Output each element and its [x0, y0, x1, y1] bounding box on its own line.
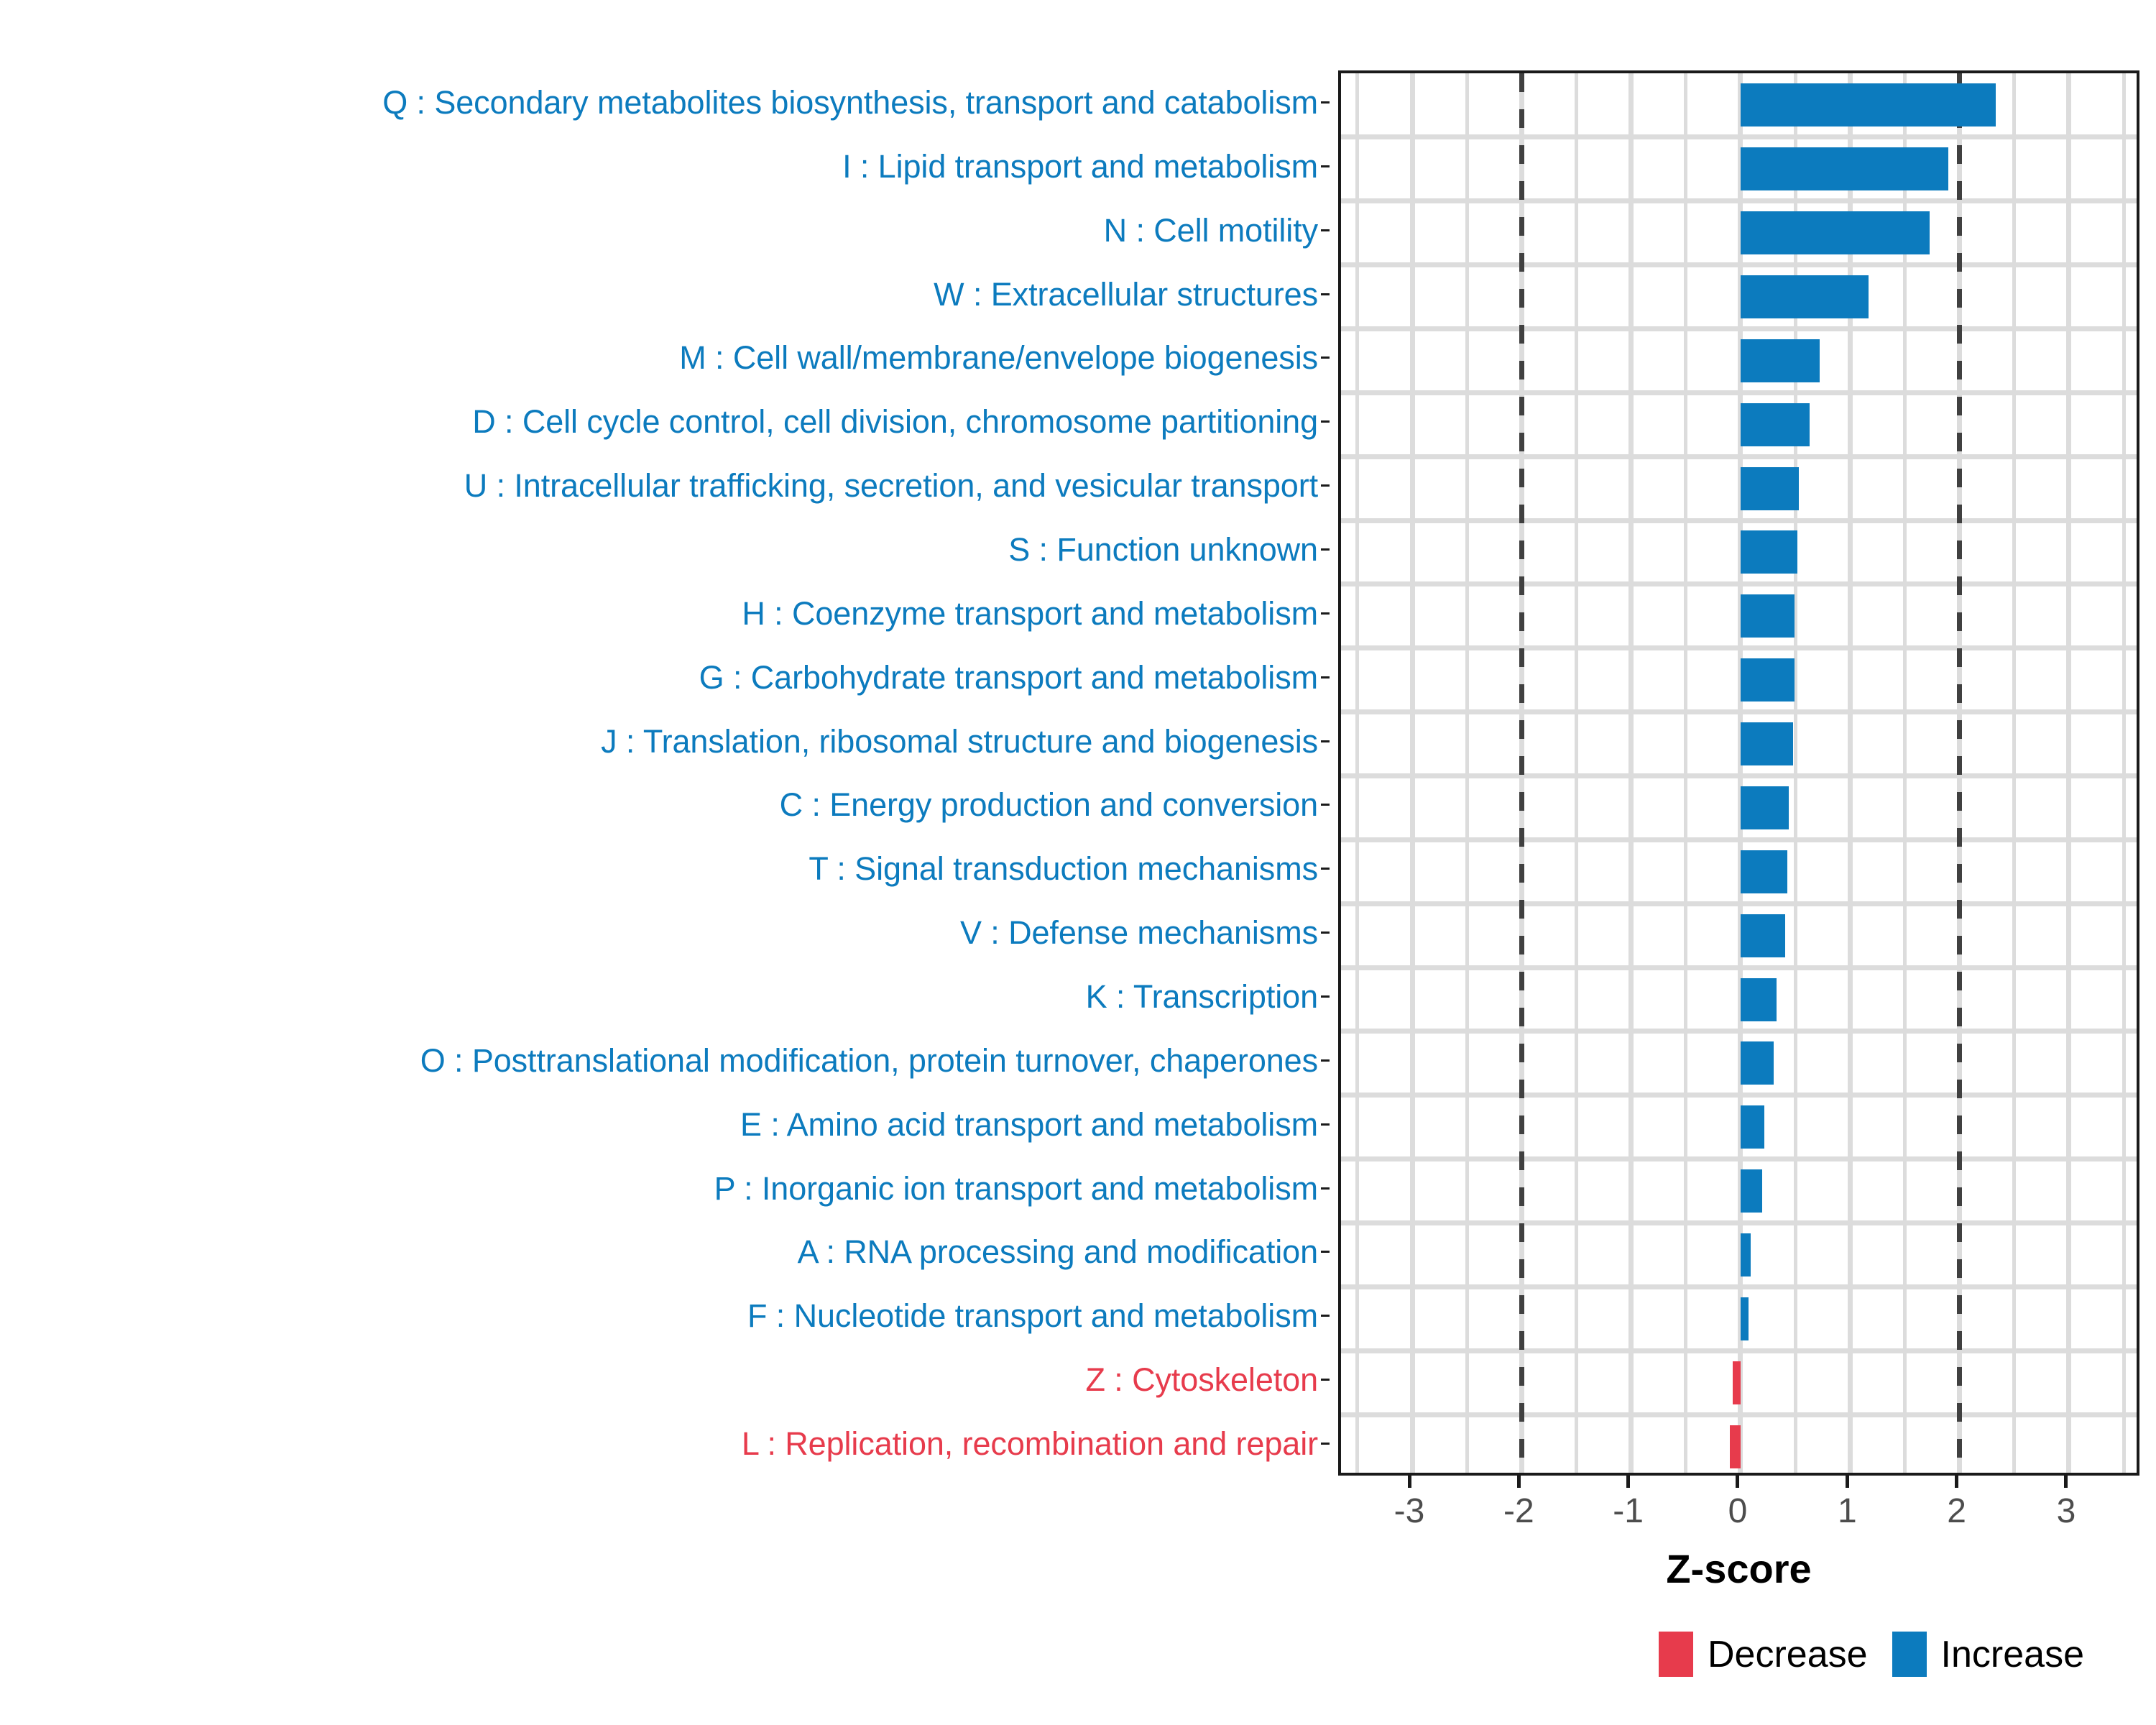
- vertical-gridline-major: [2066, 73, 2071, 1473]
- vertical-gridline-minor: [1575, 73, 1578, 1473]
- x-tick-label: 3: [2057, 1491, 2076, 1531]
- x-tick-label: -3: [1394, 1491, 1425, 1531]
- category-tick-mark: [1321, 612, 1330, 615]
- category-label: S : Function unknown: [1008, 533, 1321, 566]
- chart-root: Q : Secondary metabolites biosynthesis, …: [0, 0, 2156, 1725]
- bar: [1741, 594, 1795, 638]
- category-label: M : Cell wall/membrane/envelope biogenes…: [679, 341, 1321, 374]
- category-tick-mark: [1321, 229, 1330, 231]
- legend-swatch: [1659, 1632, 1693, 1677]
- category-tick-mark: [1321, 1251, 1330, 1253]
- category-label: Q : Secondary metabolites biosynthesis, …: [382, 86, 1321, 119]
- category-label-row: J : Translation, ribosomal structure and…: [0, 719, 1330, 763]
- category-label-row: E : Amino acid transport and metabolism: [0, 1103, 1330, 1146]
- category-label-row: D : Cell cycle control, cell division, c…: [0, 400, 1330, 443]
- legend-item[interactable]: Increase: [1892, 1632, 2084, 1677]
- category-label-row: T : Signal transduction mechanisms: [0, 847, 1330, 891]
- category-label: W : Extracellular structures: [934, 278, 1321, 310]
- category-tick-mark: [1321, 740, 1330, 742]
- category-tick-mark: [1321, 1443, 1330, 1445]
- category-label: Z : Cytoskeleton: [1085, 1363, 1321, 1396]
- category-tick-mark: [1321, 548, 1330, 551]
- category-label-row: A : RNA processing and modification: [0, 1230, 1330, 1274]
- category-label: T : Signal transduction mechanisms: [808, 852, 1321, 885]
- category-label-row: U : Intracellular trafficking, secretion…: [0, 464, 1330, 507]
- x-tick-mark: [2064, 1476, 2068, 1488]
- bar: [1741, 147, 1948, 190]
- category-label: I : Lipid transport and metabolism: [842, 150, 1321, 183]
- bar: [1741, 275, 1869, 318]
- vertical-gridline-major: [1410, 73, 1415, 1473]
- bar: [1741, 339, 1820, 382]
- category-tick-mark: [1321, 804, 1330, 806]
- category-label-row: V : Defense mechanisms: [0, 911, 1330, 954]
- bar: [1741, 658, 1795, 701]
- category-tick-mark: [1321, 356, 1330, 359]
- category-label-row: P : Inorganic ion transport and metaboli…: [0, 1167, 1330, 1210]
- x-tick-mark: [1846, 1476, 1849, 1488]
- vertical-gridline-minor: [2012, 73, 2016, 1473]
- category-axis-labels: Q : Secondary metabolites biosynthesis, …: [0, 70, 1330, 1476]
- category-label-row: N : Cell motility: [0, 208, 1330, 252]
- category-label-row: L : Replication, recombination and repai…: [0, 1422, 1330, 1466]
- bar: [1741, 1169, 1762, 1213]
- category-label-row: Z : Cytoskeleton: [0, 1358, 1330, 1402]
- bar: [1741, 1233, 1751, 1276]
- category-tick-mark: [1321, 868, 1330, 870]
- legend-item[interactable]: Decrease: [1659, 1632, 1868, 1677]
- vertical-gridline-minor: [1355, 73, 1359, 1473]
- bar: [1741, 467, 1799, 510]
- vertical-gridline-minor: [2122, 73, 2126, 1473]
- bar: [1741, 914, 1785, 957]
- category-tick-mark: [1321, 1123, 1330, 1126]
- bar: [1741, 786, 1789, 829]
- vertical-gridline-minor: [1903, 73, 1907, 1473]
- x-tick-label: -1: [1613, 1491, 1644, 1531]
- category-tick-mark: [1321, 293, 1330, 295]
- category-label: V : Defense mechanisms: [960, 916, 1321, 949]
- category-label: U : Intracellular trafficking, secretion…: [464, 469, 1321, 502]
- category-label: K : Transcription: [1086, 980, 1321, 1013]
- category-label: J : Translation, ribosomal structure and…: [601, 725, 1321, 758]
- vertical-gridline-minor: [1465, 73, 1469, 1473]
- x-tick-label: 1: [1838, 1491, 1857, 1531]
- plot-panel: [1338, 70, 2139, 1476]
- x-tick-label: 2: [1947, 1491, 1966, 1531]
- category-tick-mark: [1321, 995, 1330, 998]
- x-axis-title: Z-score: [1338, 1545, 2139, 1592]
- reference-line: [1519, 73, 1524, 1473]
- category-label: O : Posttranslational modification, prot…: [420, 1044, 1321, 1077]
- category-tick-mark: [1321, 676, 1330, 678]
- category-tick-mark: [1321, 1379, 1330, 1381]
- bar: [1741, 978, 1777, 1021]
- category-label-row: F : Nucleotide transport and metabolism: [0, 1294, 1330, 1338]
- category-tick-mark: [1321, 484, 1330, 487]
- category-label: G : Carbohydrate transport and metabolis…: [699, 661, 1321, 694]
- bar: [1741, 83, 1996, 126]
- legend-label: Decrease: [1708, 1633, 1868, 1676]
- category-label-row: K : Transcription: [0, 975, 1330, 1018]
- category-label-row: C : Energy production and conversion: [0, 783, 1330, 827]
- category-label: P : Inorganic ion transport and metaboli…: [714, 1172, 1321, 1205]
- category-tick-mark: [1321, 420, 1330, 423]
- bar: [1730, 1425, 1741, 1468]
- category-tick-mark: [1321, 165, 1330, 167]
- category-label: D : Cell cycle control, cell division, c…: [472, 405, 1321, 438]
- category-label: C : Energy production and conversion: [780, 788, 1321, 821]
- x-tick-label: -2: [1503, 1491, 1534, 1531]
- vertical-gridline-minor: [1684, 73, 1687, 1473]
- category-label: E : Amino acid transport and metabolism: [740, 1108, 1321, 1141]
- category-tick-mark: [1321, 1187, 1330, 1190]
- category-label-row: M : Cell wall/membrane/envelope biogenes…: [0, 336, 1330, 379]
- x-tick-mark: [1955, 1476, 1958, 1488]
- bar: [1741, 211, 1930, 254]
- bar: [1741, 403, 1810, 446]
- category-label-row: W : Extracellular structures: [0, 272, 1330, 316]
- legend-label: Increase: [1941, 1633, 2084, 1676]
- category-label-row: I : Lipid transport and metabolism: [0, 144, 1330, 188]
- category-label: F : Nucleotide transport and metabolism: [747, 1299, 1321, 1332]
- vertical-gridline-major: [1628, 73, 1634, 1473]
- bar: [1741, 850, 1787, 893]
- x-tick-label: 0: [1728, 1491, 1748, 1531]
- x-tick-mark: [1408, 1476, 1411, 1488]
- category-label: L : Replication, recombination and repai…: [742, 1427, 1321, 1460]
- bar: [1733, 1361, 1741, 1404]
- bar: [1741, 1105, 1765, 1149]
- category-label-row: Q : Secondary metabolites biosynthesis, …: [0, 80, 1330, 124]
- reference-line: [1957, 73, 1962, 1473]
- legend-swatch: [1892, 1632, 1927, 1677]
- category-label-row: S : Function unknown: [0, 528, 1330, 571]
- category-label-row: G : Carbohydrate transport and metabolis…: [0, 655, 1330, 699]
- bar: [1741, 530, 1797, 574]
- category-tick-mark: [1321, 1315, 1330, 1317]
- category-label-row: O : Posttranslational modification, prot…: [0, 1039, 1330, 1082]
- x-tick-mark: [1517, 1476, 1521, 1488]
- x-tick-mark: [1626, 1476, 1630, 1488]
- category-label: H : Coenzyme transport and metabolism: [742, 597, 1321, 630]
- bar: [1741, 1041, 1774, 1085]
- category-label: N : Cell motility: [1104, 214, 1321, 247]
- category-label: A : RNA processing and modification: [798, 1236, 1321, 1268]
- category-tick-mark: [1321, 931, 1330, 934]
- x-tick-mark: [1736, 1476, 1739, 1488]
- bar: [1741, 722, 1793, 765]
- chart-legend: DecreaseIncrease: [0, 1632, 2084, 1677]
- bar: [1741, 1297, 1749, 1340]
- category-label-row: H : Coenzyme transport and metabolism: [0, 592, 1330, 635]
- category-tick-mark: [1321, 1059, 1330, 1062]
- category-tick-mark: [1321, 101, 1330, 103]
